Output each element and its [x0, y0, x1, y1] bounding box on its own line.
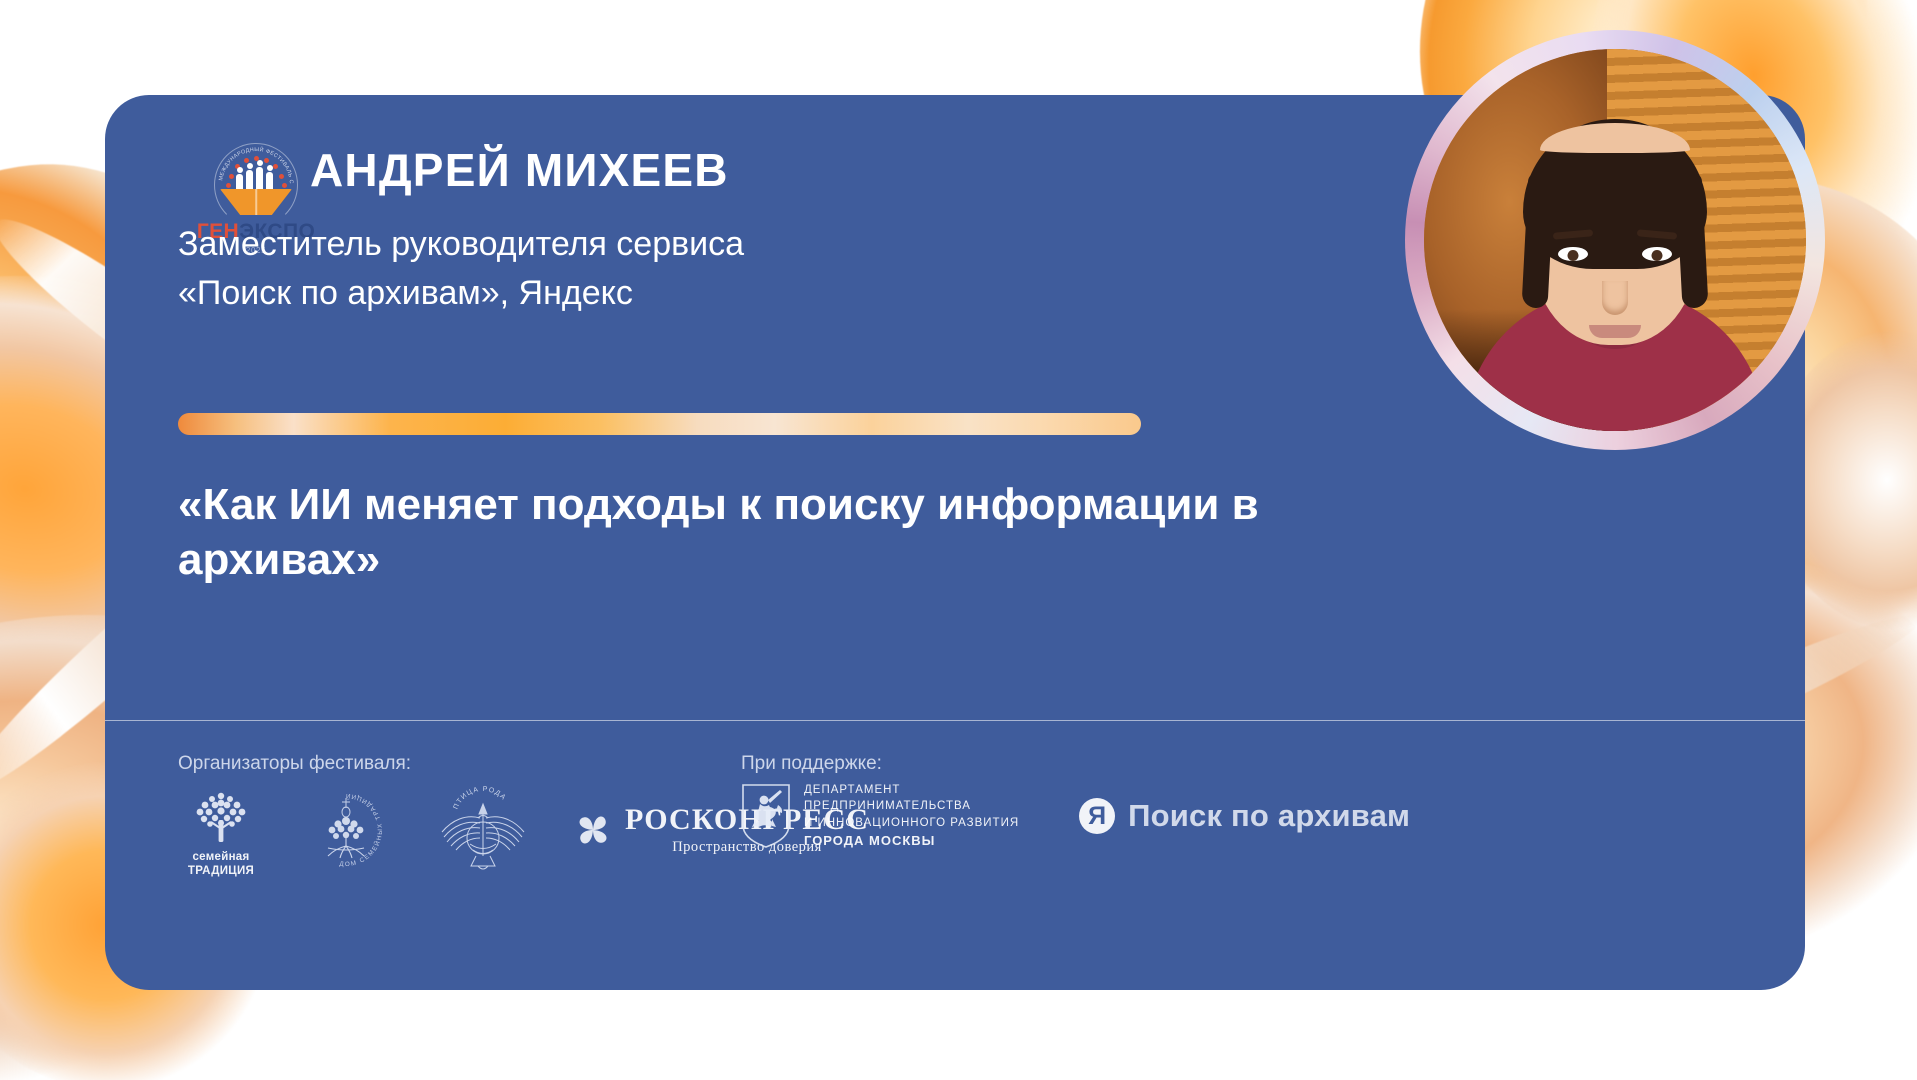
portrait-nose [1602, 281, 1628, 315]
card-footer: Организаторы фестиваля: При поддержке: [105, 720, 1805, 990]
portrait-mouth [1589, 325, 1641, 338]
dept-line-4: ГОРОДА МОСКВЫ [804, 832, 1019, 850]
support-label: При поддержке: [741, 753, 882, 775]
speaker-role: Заместитель руководителя сервиса «Поиск … [178, 220, 744, 319]
organizers-label: Организаторы фестиваля: [178, 753, 411, 775]
portrait-eye-right [1642, 247, 1672, 261]
logo-ptica-roda: ПТИЦА РОДА [428, 782, 538, 878]
svg-text:ПТИЦА РОДА: ПТИЦА РОДА [453, 786, 508, 811]
yandex-archive-search-name: Поиск по архивам [1128, 798, 1410, 834]
dept-line-3: И ИННОВАЦИОННОГО РАЗВИТИЯ [804, 815, 1019, 831]
genexpo-emblem-icon: МЕЖДУНАРОДНЫЙ ФЕСТИВАЛЬ СЕМЕЙНОЙ ИСТОРИИ [210, 143, 302, 219]
speaker-portrait [1405, 30, 1825, 450]
talk-title: «Как ИИ меняет подходы к поиску информац… [178, 477, 1458, 588]
dept-line-2: ПРЕДПРИНИМАТЕЛЬСТВА [804, 798, 1019, 814]
orange-divider [178, 413, 1141, 435]
roscongress-mark-icon [572, 809, 614, 851]
logo-dept-moscow: ДЕПАРТАМЕНТ ПРЕДПРИНИМАТЕЛЬСТВА И ИННОВА… [741, 782, 1019, 850]
supporter-logos: ДЕПАРТАМЕНТ ПРЕДПРИНИМАТЕЛЬСТВА И ИННОВА… [741, 782, 1410, 850]
tree-icon [184, 782, 258, 844]
logo-yandex-archive-search: Я Поиск по архивам [1079, 798, 1410, 834]
logo-semeynaya-traditsiya: семейная ТРАДИЦИЯ [178, 782, 264, 877]
speaker-role-line-1: Заместитель руководителя сервиса [178, 220, 744, 269]
dom-traditions-icon: ДОМ СЕМЕЙНЫХ ТРАДИЦИЙ [298, 782, 394, 878]
portrait-eye-left [1558, 247, 1588, 261]
genexpo-people-icon [233, 163, 279, 189]
portrait-photo [1424, 49, 1806, 431]
logo-semeynaya-traditsiya-text: семейная ТРАДИЦИЯ [178, 851, 264, 877]
speaker-role-line-2: «Поиск по архивам», Яндекс [178, 269, 744, 318]
speaker-name: АНДРЕЙ МИХЕЕВ [310, 143, 729, 197]
bird-icon: ПТИЦА РОДА [428, 782, 538, 878]
logo-dom-semeynyh-traditsiy: ДОМ СЕМЕЙНЫХ ТРАДИЦИЙ [298, 782, 394, 878]
moscow-coat-of-arms-icon [741, 783, 791, 849]
yandex-ya-icon: Я [1079, 798, 1115, 834]
dept-moscow-text: ДЕПАРТАМЕНТ ПРЕДПРИНИМАТЕЛЬСТВА И ИННОВА… [804, 782, 1019, 850]
slide-canvas: МЕЖДУНАРОДНЫЙ ФЕСТИВАЛЬ СЕМЕЙНОЙ ИСТОРИИ [0, 0, 1917, 1080]
dept-line-1: ДЕПАРТАМЕНТ [804, 782, 1019, 798]
